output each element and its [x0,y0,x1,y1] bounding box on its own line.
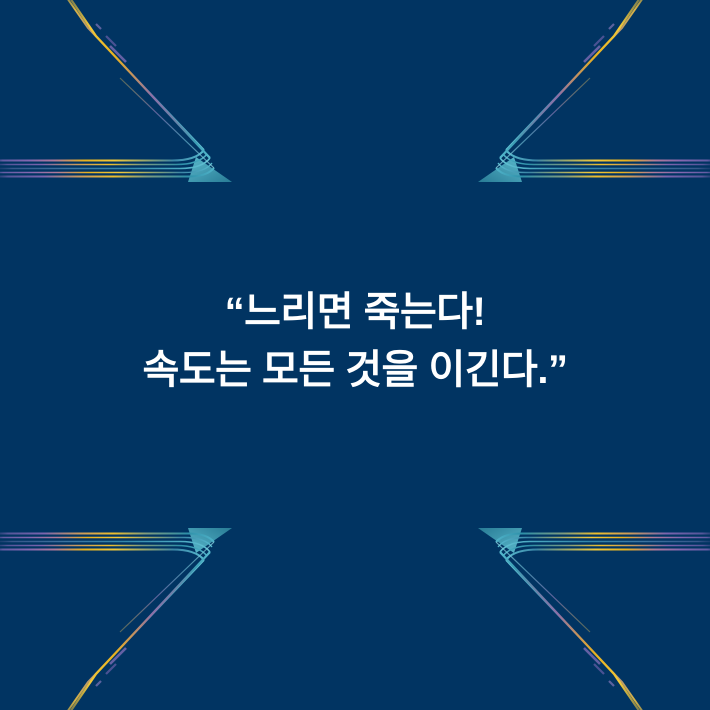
corner-motif-bottom-right [478,528,710,710]
quote-block: “느리면 죽는다! 속도는 모든 것을 이긴다.” [0,283,710,399]
corner-motif-bottom-left [0,528,232,710]
corner-motif-top-left [0,0,232,182]
corner-motif-top-right [478,0,710,182]
poster-canvas: “느리면 죽는다! 속도는 모든 것을 이긴다.” [0,0,710,710]
quote-line-1: “느리면 죽는다! [0,283,710,341]
quote-line-2: 속도는 모든 것을 이긴다.” [0,341,710,399]
